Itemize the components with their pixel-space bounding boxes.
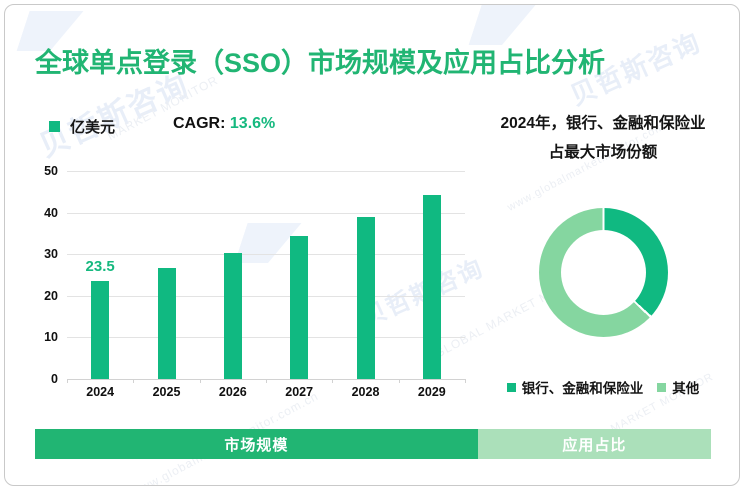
x-axis-tick <box>465 379 466 383</box>
y-axis-tick-label: 10 <box>44 330 58 344</box>
tab-market-size[interactable]: 市场规模 <box>35 429 478 459</box>
bar-chart-plot: 0102030405023.5202420252026202720282029 <box>67 171 465 379</box>
x-axis-label-2027: 2027 <box>285 385 313 399</box>
bar-value-label: 23.5 <box>86 258 115 275</box>
donut-chart-legend: 银行、金融和保险业其他 <box>475 377 731 397</box>
donut-center-hole <box>561 230 646 315</box>
page-title: 全球单点登录（SSO）市场规模及应用占比分析 <box>35 41 605 80</box>
bar-chart-legend: 亿美元 <box>49 116 115 137</box>
y-axis-tick-label: 30 <box>44 247 58 261</box>
donut-legend-item-0[interactable]: 银行、金融和保险业 <box>507 377 644 397</box>
gridline <box>67 213 465 214</box>
y-axis-tick-label: 20 <box>44 289 58 303</box>
y-axis-tick-label: 40 <box>44 206 58 220</box>
watermark-logo-mark-2 <box>469 5 536 45</box>
x-axis-tick <box>266 379 267 383</box>
x-axis-label-2026: 2026 <box>219 385 247 399</box>
y-axis-tick-label: 50 <box>44 164 58 178</box>
x-axis-label-2029: 2029 <box>418 385 446 399</box>
cagr-value: 13.6% <box>230 115 275 132</box>
gridline <box>67 171 465 172</box>
gridline <box>67 254 465 255</box>
x-axis-label-2028: 2028 <box>352 385 380 399</box>
donut-legend-label: 银行、金融和保险业 <box>522 377 644 397</box>
x-axis-tick <box>67 379 68 383</box>
bar-2028[interactable] <box>357 217 375 379</box>
card-frame: 贝哲斯咨询 MARKET MONITOR 贝哲斯咨询 www.globalmar… <box>4 4 740 486</box>
legend-swatch-icon <box>507 383 516 392</box>
x-axis-label-2025: 2025 <box>153 385 181 399</box>
chart-infographic: 贝哲斯咨询 MARKET MONITOR 贝哲斯咨询 www.globalmar… <box>0 0 744 490</box>
x-axis-tick <box>399 379 400 383</box>
legend-swatch-icon <box>657 383 666 392</box>
y-axis-tick-label: 0 <box>51 372 58 386</box>
bar-2026[interactable] <box>224 253 242 379</box>
x-axis-tick <box>332 379 333 383</box>
x-axis-tick <box>200 379 201 383</box>
x-axis-tick <box>133 379 134 383</box>
gridline <box>67 296 465 297</box>
donut-legend-item-1[interactable]: 其他 <box>657 377 699 397</box>
donut-chart <box>539 208 668 337</box>
donut-chart-heading: 2024年，银行、金融和保险业 占最大市场份额 <box>475 109 731 167</box>
donut-heading-line-1: 2024年，银行、金融和保险业 <box>475 109 731 138</box>
tab-application-share[interactable]: 应用占比 <box>478 429 711 459</box>
cagr-annotation: CAGR: 13.6% <box>173 115 275 133</box>
gridline <box>67 337 465 338</box>
bar-2029[interactable] <box>423 195 441 379</box>
bar-2025[interactable] <box>158 268 176 379</box>
bar-2027[interactable] <box>290 236 308 379</box>
donut-legend-label: 其他 <box>672 377 699 397</box>
section-tabs[interactable]: 市场规模应用占比 <box>35 429 711 459</box>
legend-swatch-icon <box>49 121 60 132</box>
legend-series-label: 亿美元 <box>70 116 115 137</box>
bar-2024[interactable] <box>91 281 109 379</box>
cagr-label: CAGR: <box>173 115 225 132</box>
x-axis-label-2024: 2024 <box>86 385 114 399</box>
donut-heading-line-2: 占最大市场份额 <box>475 138 731 167</box>
